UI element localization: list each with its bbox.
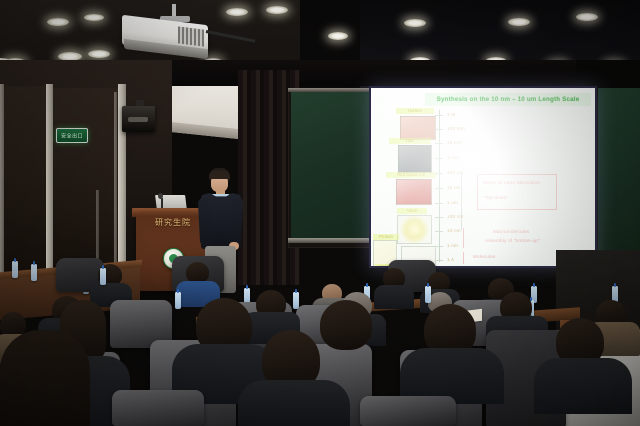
axis-label: 1 A — [447, 257, 454, 262]
water-bottle — [175, 292, 181, 309]
water-bottle — [12, 261, 18, 278]
audience-shoulders-foreground — [534, 358, 632, 414]
slide-thumb-label: Hair — [389, 138, 431, 144]
wall-pilaster — [114, 92, 117, 282]
axis-tick — [435, 188, 443, 189]
scale-bracket-bottom — [463, 252, 464, 264]
audience-head-foreground — [320, 300, 372, 350]
water-bottle — [100, 268, 106, 285]
ceiling-downlight — [266, 6, 288, 14]
annotation-text: Molecules — [473, 254, 495, 259]
podium-microphone — [158, 193, 163, 199]
lecture-hall-photo: 安全出口 Synthesis on the 10 nm – 10 um Leng… — [0, 0, 640, 426]
audience-head-closest — [0, 330, 90, 426]
ceiling-downlight — [226, 8, 248, 16]
water-bottle — [31, 264, 37, 281]
slide-thumbnail — [397, 215, 432, 244]
axis-tick — [435, 260, 443, 261]
annotation-text: Micro- to nano-fabrication — [483, 180, 540, 185]
axis-tick — [435, 246, 443, 247]
auditorium-chair — [112, 390, 204, 426]
axis-tick — [435, 143, 443, 144]
water-bottle — [425, 286, 431, 303]
scale-bracket-top — [461, 172, 462, 230]
projector-vent-grille — [178, 26, 204, 46]
axis-label: 1 mm — [447, 155, 459, 160]
exit-sign: 安全出口 — [56, 128, 88, 143]
wall-speaker — [122, 106, 155, 132]
ceiling-downlight — [508, 18, 530, 26]
presenter-right-arm — [229, 198, 243, 247]
axis-tick — [435, 115, 443, 116]
axis-label: 100 mm — [447, 126, 465, 131]
axis-tick — [435, 158, 443, 159]
axis-tick — [435, 217, 443, 218]
axis-tick — [435, 203, 443, 204]
chalkboard — [291, 92, 373, 240]
projected-slide: Synthesis on the 10 nm – 10 um Length Sc… — [371, 88, 595, 266]
ceiling-downlight — [84, 14, 104, 21]
auditorium-chair — [360, 396, 456, 426]
chalkboard-top-rail — [288, 88, 376, 92]
slide-thumb-label: Red blood cell — [386, 172, 436, 178]
annotation-text: Macromolecules — [493, 229, 529, 234]
axis-label: 10 nm — [447, 228, 461, 233]
slide-thumb-label: Human — [396, 108, 434, 114]
slide-thumb-label: Virus — [397, 208, 427, 214]
axis-label: 1 m — [447, 112, 455, 117]
slide-title: Synthesis on the 10 nm – 10 um Length Sc… — [425, 93, 591, 106]
wall-panel — [2, 86, 46, 286]
ceiling-downlight — [328, 32, 348, 40]
presenter-hair-front — [209, 171, 230, 179]
wall-pilaster — [46, 84, 53, 286]
scale-bracket-mid — [463, 228, 464, 248]
wall-pilaster — [0, 84, 4, 286]
axis-label: 10 um — [447, 185, 461, 190]
ceiling-downlight — [47, 18, 69, 26]
slide-thumbnail — [398, 145, 432, 173]
annotation-text: Assembly of "bottom-up" — [485, 238, 540, 243]
axis-tick — [435, 173, 443, 174]
ceiling-downlight — [576, 13, 598, 21]
slide-thumbnail — [396, 179, 432, 205]
ceiling-downlight — [404, 19, 426, 27]
axis-label: 10 mm — [447, 140, 462, 145]
annotation-text: "Top-down" — [483, 195, 508, 200]
chalkboard-right — [596, 88, 640, 258]
slide-thumbnail — [400, 116, 436, 140]
exit-sign-label: 安全出口 — [61, 132, 83, 140]
axis-label: 1 um — [447, 200, 458, 205]
axis-tick — [435, 129, 443, 130]
ceiling-downlight — [88, 50, 110, 58]
axis-label: 1 nm — [447, 243, 458, 248]
axis-tick — [435, 231, 443, 232]
chalkboard-chalk-rail — [288, 238, 376, 243]
audience-shoulders-foreground — [238, 380, 350, 426]
audience-shoulders — [374, 285, 414, 309]
projection-screen: Synthesis on the 10 nm – 10 um Length Sc… — [369, 86, 597, 268]
audience-head — [186, 262, 209, 283]
length-scale-axis — [439, 110, 440, 262]
